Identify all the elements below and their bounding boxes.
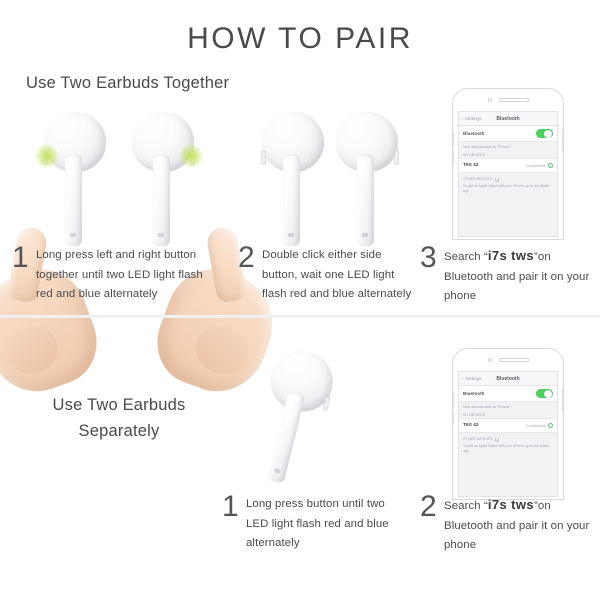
earbud-left-stem <box>65 154 82 246</box>
info-icon-bottom[interactable]: i <box>548 423 554 429</box>
other-devices-header-row-top: OTHER DEVICES <box>459 173 557 183</box>
section-heading-separately: Use Two Earbuds Separately <box>24 392 214 444</box>
earpiece-speaker-icon-bottom <box>499 358 529 362</box>
step-separately-1: 1 Long press button until two LED light … <box>222 495 402 554</box>
earbud-left <box>44 112 106 252</box>
phone-top-hardware-bottom <box>453 358 563 362</box>
earbud-single <box>245 345 339 496</box>
step-number-together-3: 3 <box>420 244 444 272</box>
step-together-2: 2 Double click either side button, wait … <box>238 246 416 305</box>
power-button-bottom[interactable] <box>562 389 564 411</box>
search-prefix-together-3: Search “ <box>444 251 488 263</box>
earbud-pair-right-button <box>394 150 399 165</box>
toggle-knob-bottom <box>544 390 552 398</box>
screen-empty-area-bottom <box>459 455 557 497</box>
search-prefix-separately-2: Search “ <box>444 500 488 512</box>
left-knuckle-shading <box>0 320 64 381</box>
watch-footer-note-bottom: To pair an Apple Watch with your iPhone,… <box>459 443 557 455</box>
step-separately-2: 2 Search “i7s tws”on Bluetooth and pair … <box>420 495 596 556</box>
page-title: HOW TO PAIR <box>0 22 600 56</box>
how-to-pair-infographic: HOW TO PAIR Use Two Earbuds Together <box>0 0 600 600</box>
earbud-right-touch-glow <box>179 144 203 168</box>
step-number-separately-2: 2 <box>420 493 444 521</box>
single-earbud-illustration <box>248 352 378 492</box>
earpiece-speaker-icon <box>499 98 529 102</box>
step-text-together-2: Double click either side button, wait on… <box>262 246 416 305</box>
loading-spinner-icon-top <box>495 177 500 182</box>
separately-heading-line2: Separately <box>24 418 214 444</box>
bluetooth-label-top: Bluetooth <box>463 131 484 136</box>
device-name-bottom: T6S 42 <box>463 423 478 428</box>
loading-spinner-icon-bottom <box>495 437 500 442</box>
bluetooth-toggle-bottom[interactable] <box>536 389 553 399</box>
bluetooth-label-bottom: Bluetooth <box>463 391 484 396</box>
earbuds-with-hands-illustration <box>14 104 230 244</box>
front-camera-icon <box>488 98 492 102</box>
paired-device-row-top[interactable]: T6S 42 Connected i <box>459 158 557 173</box>
toggle-knob-top <box>544 130 552 138</box>
bluetooth-toggle-row-top[interactable]: Bluetooth <box>459 126 557 142</box>
separately-heading-line1: Use Two Earbuds <box>53 396 186 414</box>
earbuds-pair-illustration <box>252 104 412 244</box>
info-icon-top[interactable]: i <box>548 163 554 169</box>
volume-up-button-bottom[interactable] <box>452 393 454 407</box>
navigation-bar-bottom: ‹ Settings Bluetooth <box>459 372 557 386</box>
phone-screen-bottom: ‹ Settings Bluetooth Bluetooth Now disco… <box>458 371 558 497</box>
navigation-bar-top: ‹ Settings Bluetooth <box>459 112 557 126</box>
paired-device-row-bottom[interactable]: T6S 42 Connected i <box>459 418 557 433</box>
volume-down-button-bottom[interactable] <box>452 411 454 425</box>
device-status-top: Connected <box>526 163 545 168</box>
nav-title-top: Bluetooth <box>459 116 557 122</box>
device-name-separately-2: i7s tws <box>488 497 534 512</box>
step-number-together-1: 1 <box>12 244 36 272</box>
other-devices-header-bottom: OTHER DEVICES <box>463 437 492 441</box>
earbud-right-stem <box>153 154 170 246</box>
step-together-3: 3 Search “i7s tws”on Bluetooth and pair … <box>420 246 596 307</box>
earbud-pair-right-stem <box>357 154 374 246</box>
section-heading-together: Use Two Earbuds Together <box>26 74 229 93</box>
bluetooth-toggle-top[interactable] <box>536 129 553 139</box>
screen-empty-area-top <box>459 195 557 237</box>
step-number-together-2: 2 <box>238 244 262 272</box>
earbud-pair-left-stem <box>283 154 300 246</box>
discoverable-hint-bottom: Now discoverable as “iPhone”. <box>459 402 557 412</box>
discoverable-hint-top: Now discoverable as “iPhone”. <box>459 142 557 152</box>
iphone-bluetooth-screen-bottom: ‹ Settings Bluetooth Bluetooth Now disco… <box>452 348 564 500</box>
earbud-pair-left <box>262 112 324 252</box>
step-text-separately-2: Search “i7s tws”on Bluetooth and pair it… <box>444 495 596 556</box>
earbud-pair-left-button <box>261 150 266 165</box>
power-button-top[interactable] <box>562 129 564 151</box>
volume-up-button-top[interactable] <box>452 133 454 147</box>
step-text-together-3: Search “i7s tws”on Bluetooth and pair it… <box>444 246 596 307</box>
phone-screen-top: ‹ Settings Bluetooth Bluetooth Now disco… <box>458 111 558 237</box>
section-divider <box>0 315 600 318</box>
earbud-single-stem <box>267 390 306 483</box>
device-status-bottom: Connected <box>526 423 545 428</box>
nav-title-bottom: Bluetooth <box>459 376 557 382</box>
device-name-top: T6S 42 <box>463 163 478 168</box>
bluetooth-toggle-row-bottom[interactable]: Bluetooth <box>459 386 557 402</box>
watch-footer-note-top: To pair an Apple Watch with your iPhone,… <box>459 183 557 195</box>
front-camera-icon-bottom <box>488 358 492 362</box>
earbud-left-touch-glow <box>35 144 59 168</box>
volume-down-button-top[interactable] <box>452 151 454 165</box>
step-text-together-1: Long press left and right button togethe… <box>36 246 212 305</box>
iphone-bluetooth-screen-top: ‹ Settings Bluetooth Bluetooth Now disco… <box>452 88 564 240</box>
step-together-1: 1 Long press left and right button toget… <box>12 246 212 305</box>
earbud-pair-right <box>336 112 398 252</box>
device-name-together-3: i7s tws <box>488 248 534 263</box>
other-devices-header-top: OTHER DEVICES <box>463 177 492 181</box>
other-devices-header-row-bottom: OTHER DEVICES <box>459 433 557 443</box>
phone-top-hardware-top <box>453 98 563 102</box>
right-knuckle-shading <box>190 320 255 381</box>
earbud-right <box>132 112 194 252</box>
step-text-separately-1: Long press button until two LED light fl… <box>246 495 402 554</box>
step-number-separately-1: 1 <box>222 493 246 521</box>
